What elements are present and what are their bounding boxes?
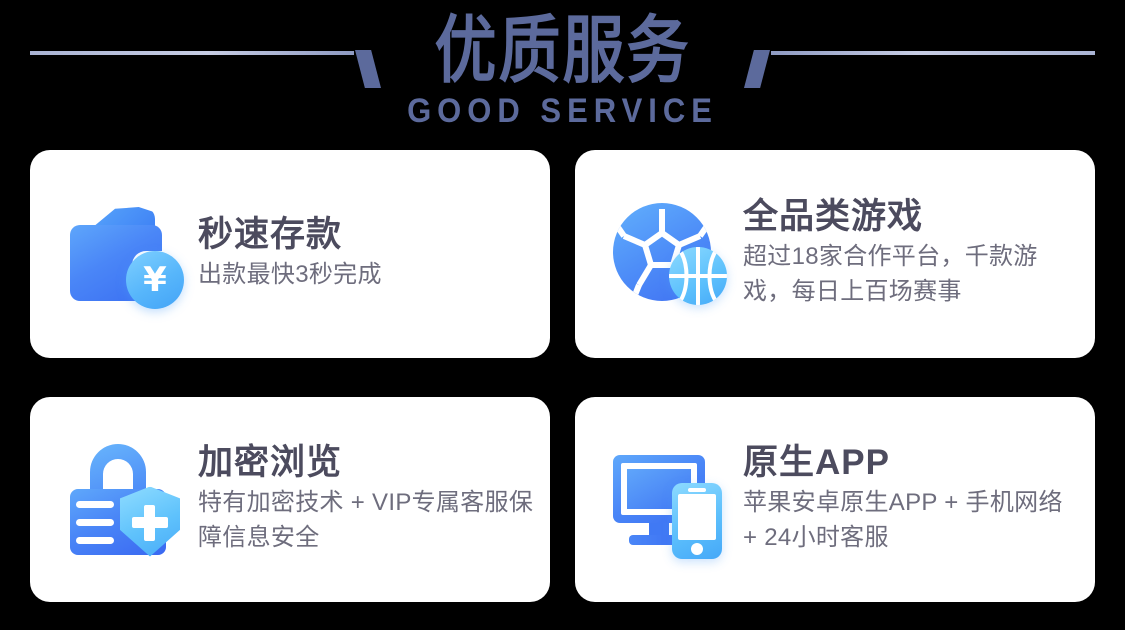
lock-slot	[76, 501, 114, 508]
lock-shield-icon	[64, 439, 186, 561]
page-title: 优质服务	[0, 8, 1125, 82]
feature-card-desc: 超过18家合作平台，千款游戏，每日上百场赛事	[743, 239, 1083, 309]
feature-card-desc: 出款最快3秒完成	[198, 257, 382, 292]
feature-card-title: 原生APP	[743, 441, 1083, 485]
wallet-coin-icon: ¥	[64, 193, 186, 315]
feature-card-text: 秒速存款 出款最快3秒完成	[198, 213, 382, 296]
page-title-cn: 优质服务	[0, 8, 1125, 95]
lock-slot	[76, 519, 114, 526]
shield-plus-icon	[144, 505, 155, 541]
feature-card-title: 加密浏览	[198, 441, 538, 485]
feature-card-grid: ¥ 秒速存款 出款最快3秒完成	[30, 150, 1095, 602]
feature-card-text: 全品类游戏 超过18家合作平台，千款游戏，每日上百场赛事	[743, 195, 1083, 313]
yen-coin-icon: ¥	[126, 251, 184, 309]
lock-slot	[76, 537, 114, 544]
phone-screen	[678, 494, 716, 540]
feature-card-title: 秒速存款	[198, 213, 382, 257]
feature-card-deposit[interactable]: ¥ 秒速存款 出款最快3秒完成	[30, 150, 550, 358]
feature-card-text: 加密浏览 特有加密技术 + VIP专属客服保障信息安全	[198, 441, 538, 559]
feature-card-native-app[interactable]: 原生APP 苹果安卓原生APP + 手机网络 + 24小时客服	[575, 397, 1095, 602]
promo-page: 优质服务 GOOD SERVICE ¥ 秒速存款 出款最快3秒完成	[0, 0, 1125, 630]
feature-card-desc: 特有加密技术 + VIP专属客服保障信息安全	[198, 485, 538, 555]
feature-card-desc: 苹果安卓原生APP + 手机网络 + 24小时客服	[743, 485, 1083, 555]
basketball-icon	[669, 247, 727, 305]
phone-speaker	[688, 488, 706, 492]
feature-card-games[interactable]: 全品类游戏 超过18家合作平台，千款游戏，每日上百场赛事	[575, 150, 1095, 358]
feature-card-text: 原生APP 苹果安卓原生APP + 手机网络 + 24小时客服	[743, 441, 1083, 559]
page-title-en: GOOD SERVICE	[0, 92, 1125, 130]
page-header: 优质服务 GOOD SERVICE	[0, 0, 1125, 140]
monitor-phone-icon	[609, 439, 731, 561]
phone-home-button	[691, 543, 703, 555]
feature-card-title: 全品类游戏	[743, 195, 1083, 239]
yen-symbol: ¥	[126, 251, 184, 309]
feature-card-encryption[interactable]: 加密浏览 特有加密技术 + VIP专属客服保障信息安全	[30, 397, 550, 602]
soccer-basketball-icon	[609, 193, 731, 315]
